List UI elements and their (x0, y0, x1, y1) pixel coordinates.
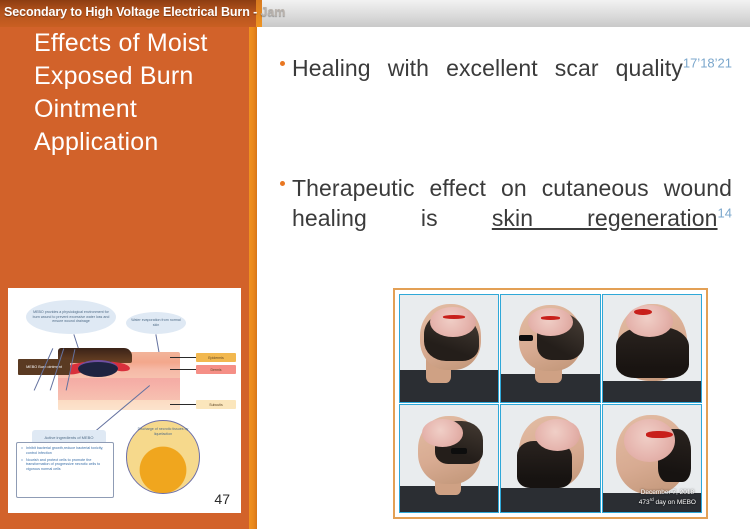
clinical-photo: December 7, 2018 473rd day on MEBO (602, 404, 702, 513)
bullet-2-superscript: 14 (718, 205, 732, 220)
dermis-leader-icon (170, 369, 196, 370)
dermis-layer (58, 378, 180, 400)
mebo-mechanism-figure: MEBO provides a physiological environmen… (8, 288, 241, 513)
window-title-bar: Secondary to High Voltage Electrical Bur… (0, 0, 750, 27)
window-title-text: Secondary to High Voltage Electrical Bur… (4, 5, 285, 19)
photo-caption: December 7, 2018 473rd day on MEBO (639, 488, 696, 508)
clinical-photo-figure: December 7, 2018 473rd day on MEBO (393, 288, 708, 519)
subcutis-leader-icon (170, 404, 196, 405)
callout-necrotic-discharge: Discharge of necrotic tissues by liquefa… (126, 420, 200, 494)
photo-caption-day-rest: day on MEBO (654, 500, 696, 507)
active-ingredient-item: Inhibit bacterial growth,reduce bacteria… (21, 446, 110, 456)
window-title-main: Secondary to High Voltage Electrical Bur… (4, 5, 261, 19)
active-ingredient-item: Nourish and protect cells to promote the… (21, 458, 110, 472)
slide-body-bullets: Healing with excellent scar quality17’18… (280, 54, 732, 263)
callout-mebo-environment: MEBO provides a physiological environmen… (26, 300, 116, 334)
bullet-1-superscript: 17’18’21 (683, 55, 732, 70)
photo-caption-day: 473rd day on MEBO (639, 497, 696, 508)
slide-accent-stripe (249, 27, 257, 529)
wound-crater (78, 360, 118, 377)
photo-caption-date: December 7, 2018 (639, 488, 696, 497)
photo-caption-day-number: 473 (639, 500, 650, 507)
layer-tag-subcutis: Subcutis (196, 400, 236, 409)
clinical-photo-grid: December 7, 2018 473rd day on MEBO (399, 294, 702, 513)
mebo-diagram-canvas: MEBO provides a physiological environmen… (10, 290, 239, 511)
active-ingredients-box: Inhibit bacterial growth,reduce bacteria… (16, 442, 114, 498)
slide-title: Effects of Moist Exposed Burn Ointment A… (34, 27, 239, 159)
bullet-dot-icon (280, 181, 285, 186)
clinical-photo (399, 294, 499, 403)
epidermis-leader-icon (170, 357, 196, 358)
bullet-item-1: Healing with excellent scar quality17’18… (280, 54, 732, 114)
slide-page-number: 47 (214, 491, 230, 507)
presentation-slide: Secondary to High Voltage Electrical Bur… (0, 0, 750, 529)
clinical-photo (500, 404, 600, 513)
clinical-photo (500, 294, 600, 403)
layer-tag-dermis: Dermis (196, 365, 236, 374)
window-title-faded: Jam (261, 5, 286, 19)
clinical-photo (399, 404, 499, 513)
bullet-item-2: Therapeutic effect on cutaneous wound he… (280, 174, 732, 264)
bullet-dot-icon (280, 61, 285, 66)
bullet-1-text: Healing with excellent scar quality (292, 55, 683, 81)
bullet-2-underlined-phrase: skin regeneration (492, 205, 718, 231)
callout-water-evaporation: Water evaporation from normal skin (126, 312, 186, 334)
layer-tag-epidermis: Epidermis (196, 353, 236, 362)
clinical-photo (602, 294, 702, 403)
